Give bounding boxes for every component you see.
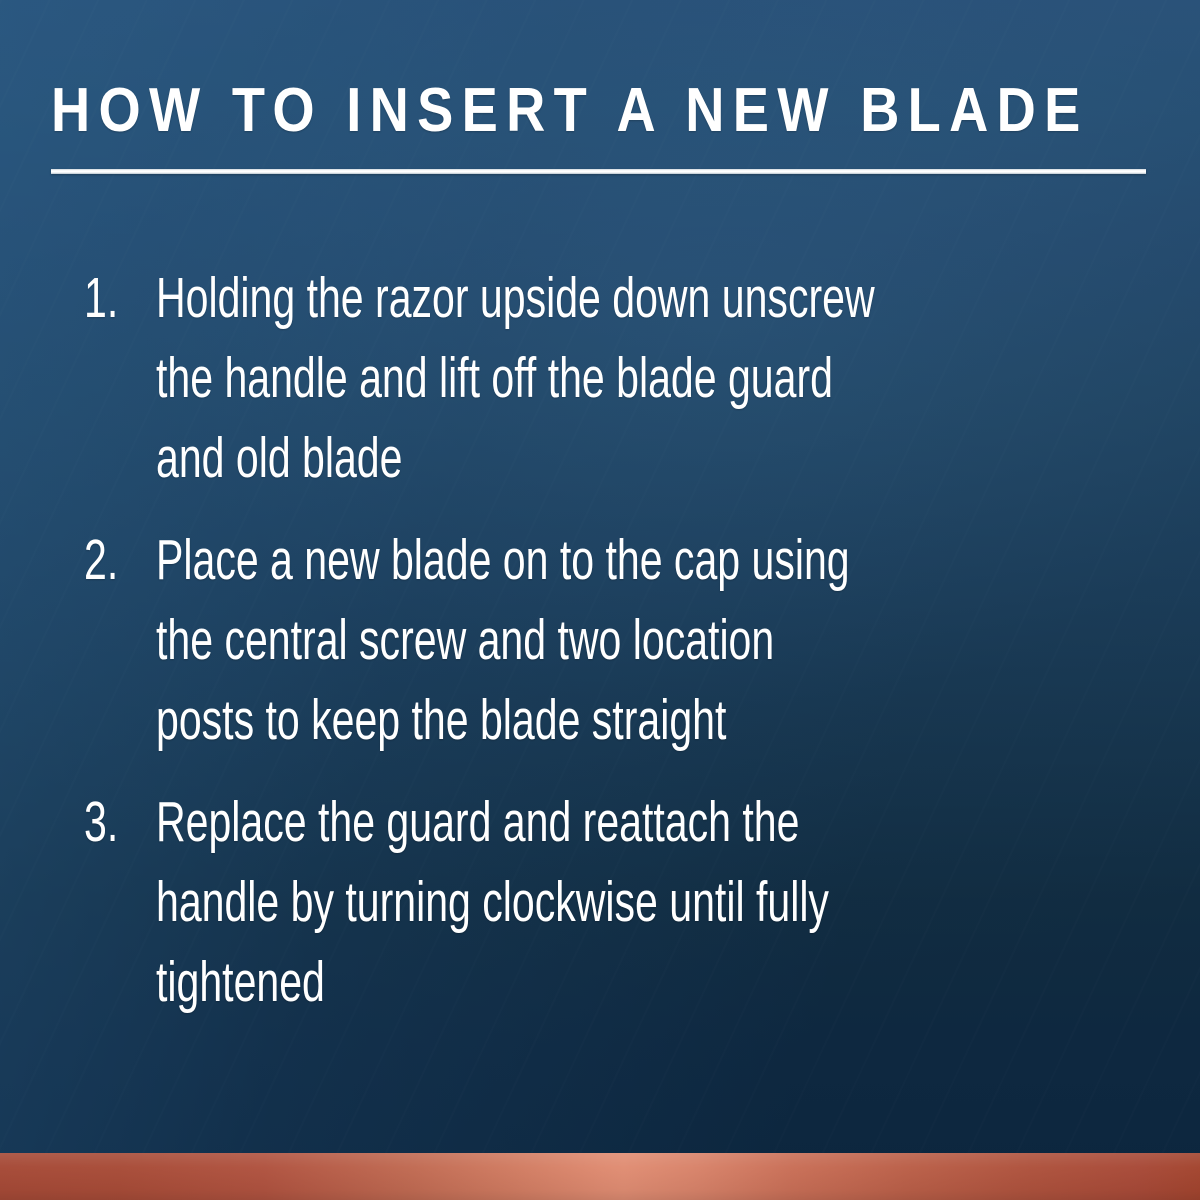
title-underline-rule xyxy=(51,169,1146,174)
step-text: Place a new blade on to the cap using th… xyxy=(156,520,883,760)
step-number: 3. xyxy=(84,782,136,862)
step-number: 2. xyxy=(84,520,136,600)
steps-list: 1. Holding the razor upside down unscrew… xyxy=(84,258,1144,1022)
poster-content: HOW TO INSERT A NEW BLADE 1. Holding the… xyxy=(0,0,1200,1200)
list-item: 3. Replace the guard and reattach the ha… xyxy=(84,782,1144,1022)
list-item: 2. Place a new blade on to the cap using… xyxy=(84,520,1144,760)
title-block: HOW TO INSERT A NEW BLADE xyxy=(51,76,1146,146)
instruction-poster: HOW TO INSERT A NEW BLADE 1. Holding the… xyxy=(0,0,1200,1200)
step-text: Replace the guard and reattach the handl… xyxy=(156,782,883,1022)
step-number: 1. xyxy=(84,258,136,338)
page-title: HOW TO INSERT A NEW BLADE xyxy=(51,76,1009,146)
step-text: Holding the razor upside down unscrew th… xyxy=(156,258,883,498)
list-item: 1. Holding the razor upside down unscrew… xyxy=(84,258,1144,498)
accent-bottom-bar xyxy=(0,1153,1200,1200)
accent-bar-sheen xyxy=(0,1153,1200,1200)
